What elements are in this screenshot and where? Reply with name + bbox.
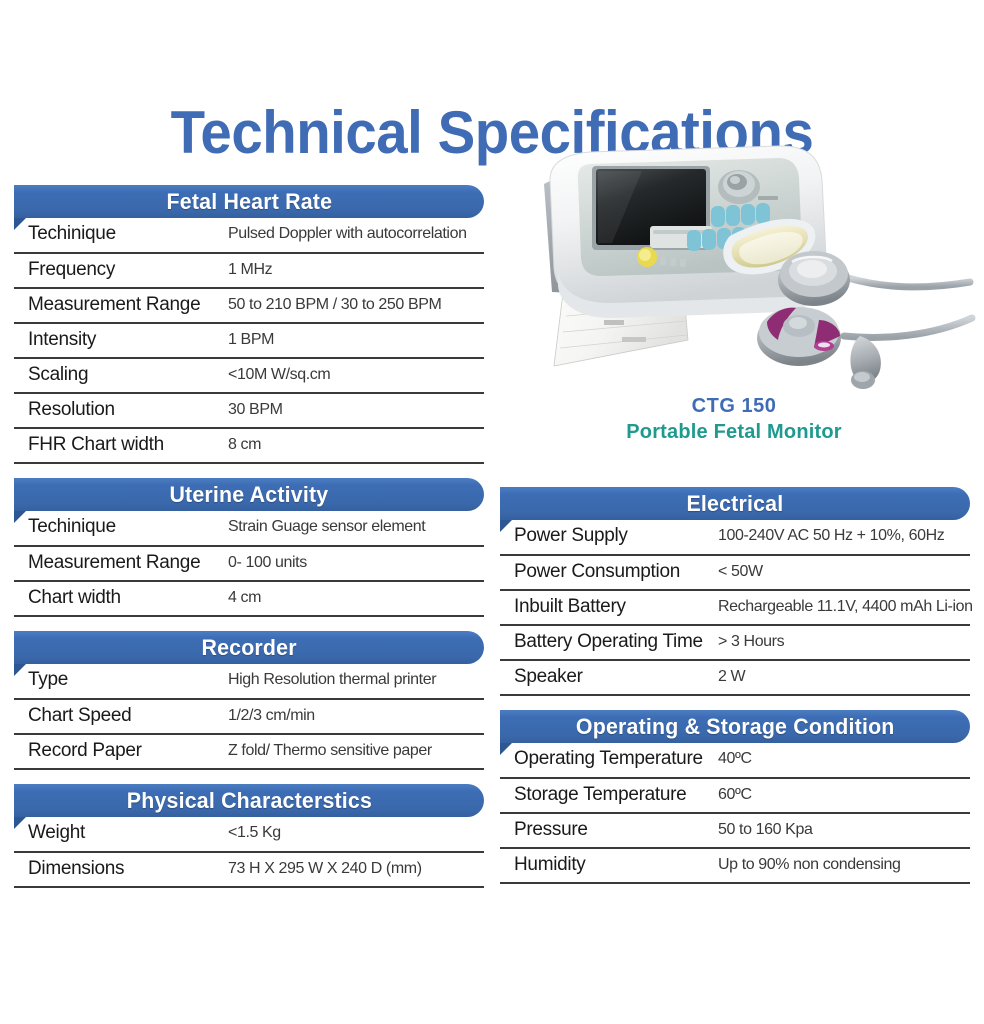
spec-label: Frequency — [14, 253, 228, 288]
spec-label: Humidity — [500, 848, 718, 883]
table-row: Weight<1.5 Kg — [14, 817, 484, 852]
banner-bar: Physical Characterstics — [14, 784, 484, 817]
product-model: CTG 150 — [492, 394, 976, 420]
table-row: Scaling<10M W/sq.cm — [14, 358, 484, 393]
spec-label: Scaling — [14, 358, 228, 393]
table-row: FHR Chart width8 cm — [14, 428, 484, 463]
section-title: Operating & Storage Condition — [576, 714, 895, 740]
table-row: Inbuilt BatteryRechargeable 11.1V, 4400 … — [500, 590, 970, 625]
spec-value: > 3 Hours — [718, 625, 970, 660]
table-row: Chart Speed1/2/3 cm/min — [14, 699, 484, 734]
section-title: Fetal Heart Rate — [166, 189, 332, 215]
spec-label: Power Supply — [500, 520, 718, 555]
spec-label: Techinique — [14, 511, 228, 546]
spec-value: <10M W/sq.cm — [228, 358, 484, 393]
table-row: Chart width4 cm — [14, 581, 484, 616]
spec-value: 8 cm — [228, 428, 484, 463]
spec-section-recorder: RecorderTypeHigh Resolution thermal prin… — [14, 631, 484, 770]
table-row: Pressure50 to 160 Kpa — [500, 813, 970, 848]
table-row: Intensity1 BPM — [14, 323, 484, 358]
table-row: Resolution30 BPM — [14, 393, 484, 428]
spec-label: Pressure — [500, 813, 718, 848]
section-banner-uterine-activity: Uterine Activity — [14, 478, 484, 511]
spec-label: Chart Speed — [14, 699, 228, 734]
table-row: Operating Temperature40ºC — [500, 743, 970, 778]
table-row: Storage Temperature60ºC — [500, 778, 970, 813]
spec-section-uterine-activity: Uterine ActivityTechiniqueStrain Guage s… — [14, 478, 484, 617]
banner-bar: Recorder — [14, 631, 484, 664]
product-subtitle: Portable Fetal Monitor — [492, 420, 976, 446]
spec-section-fetal-heart-rate: Fetal Heart RateTechiniquePulsed Doppler… — [14, 185, 484, 464]
spec-value: Z fold/ Thermo sensitive paper — [228, 734, 484, 769]
toco-transducer-probe — [757, 307, 841, 366]
banner-bar: Fetal Heart Rate — [14, 185, 484, 218]
spec-label: Chart width — [14, 581, 228, 616]
spec-table-uterine-activity: TechiniqueStrain Guage sensor elementMea… — [14, 511, 484, 617]
spec-label: Techinique — [14, 218, 228, 253]
banner-bar: Operating & Storage Condition — [500, 710, 970, 743]
spec-section-operating-storage-condition: Operating & Storage ConditionOperating T… — [500, 710, 970, 884]
banner-fold-notch-icon — [14, 663, 27, 676]
spec-value: Rechargeable 11.1V, 4400 mAh Li-ion — [718, 590, 970, 625]
ultrasound-transducer-probe — [778, 251, 850, 306]
spec-label: Weight — [14, 817, 228, 852]
table-row: Power Consumption< 50W — [500, 555, 970, 590]
product-caption: CTG 150 Portable Fetal Monitor — [492, 394, 976, 445]
spec-value: < 50W — [718, 555, 970, 590]
table-row: Record PaperZ fold/ Thermo sensitive pap… — [14, 734, 484, 769]
spec-value: 60ºC — [718, 778, 970, 813]
page-title: Technical Specifications — [30, 0, 955, 163]
spec-table-recorder: TypeHigh Resolution thermal printerChart… — [14, 664, 484, 770]
spec-value: 0- 100 units — [228, 546, 484, 581]
spec-value: 1/2/3 cm/min — [228, 699, 484, 734]
table-row: Measurement Range50 to 210 BPM / 30 to 2… — [14, 288, 484, 323]
spec-label: Intensity — [14, 323, 228, 358]
spec-label: Power Consumption — [500, 555, 718, 590]
spec-value: High Resolution thermal printer — [228, 664, 484, 699]
table-row: Battery Operating Time> 3 Hours — [500, 625, 970, 660]
spec-label: Measurement Range — [14, 546, 228, 581]
spec-label: Measurement Range — [14, 288, 228, 323]
spec-table-electrical: Power Supply100-240V AC 50 Hz + 10%, 60H… — [500, 520, 970, 696]
table-row: HumidityUp to 90% non condensing — [500, 848, 970, 883]
banner-bar: Uterine Activity — [14, 478, 484, 511]
spec-value: Strain Guage sensor element — [228, 511, 484, 546]
spec-value: 50 to 210 BPM / 30 to 250 BPM — [228, 288, 484, 323]
spec-label: Dimensions — [14, 852, 228, 887]
spec-value: 30 BPM — [228, 393, 484, 428]
table-row: Frequency1 MHz — [14, 253, 484, 288]
section-banner-operating-storage-condition: Operating & Storage Condition — [500, 710, 970, 743]
spec-value: 1 BPM — [228, 323, 484, 358]
table-row: TechiniquePulsed Doppler with autocorrel… — [14, 218, 484, 253]
banner-fold-notch-icon — [14, 217, 27, 230]
section-banner-recorder: Recorder — [14, 631, 484, 664]
spec-table-operating-storage-condition: Operating Temperature40ºCStorage Tempera… — [500, 743, 970, 884]
section-title: Physical Characterstics — [126, 788, 371, 814]
spec-label: Inbuilt Battery — [500, 590, 718, 625]
section-banner-fetal-heart-rate: Fetal Heart Rate — [14, 185, 484, 218]
section-title: Recorder — [201, 635, 296, 661]
spec-section-electrical: ElectricalPower Supply100-240V AC 50 Hz … — [500, 487, 970, 696]
spec-label: Type — [14, 664, 228, 699]
spec-section-physical-characterstics: Physical CharactersticsWeight<1.5 KgDime… — [14, 784, 484, 888]
spec-value: 50 to 160 Kpa — [718, 813, 970, 848]
table-row: Measurement Range0- 100 units — [14, 546, 484, 581]
table-row: Power Supply100-240V AC 50 Hz + 10%, 60H… — [500, 520, 970, 555]
banner-fold-notch-icon — [500, 519, 513, 532]
table-row: Dimensions73 H X 295 W X 240 D (mm) — [14, 852, 484, 887]
spec-label: FHR Chart width — [14, 428, 228, 463]
spec-label: Battery Operating Time — [500, 625, 718, 660]
specifications-content: Fetal Heart RateTechiniquePulsed Doppler… — [0, 185, 984, 975]
table-row: TypeHigh Resolution thermal printer — [14, 664, 484, 699]
spec-value: 4 cm — [228, 581, 484, 616]
banner-fold-notch-icon — [14, 510, 27, 523]
banner-fold-notch-icon — [500, 742, 513, 755]
spec-label: Operating Temperature — [500, 743, 718, 778]
spec-value: Up to 90% non condensing — [718, 848, 970, 883]
spec-value: 1 MHz — [228, 253, 484, 288]
table-row: Speaker2 W — [500, 660, 970, 695]
section-banner-electrical: Electrical — [500, 487, 970, 520]
table-row: TechiniqueStrain Guage sensor element — [14, 511, 484, 546]
spec-value: 2 W — [718, 660, 970, 695]
spec-label: Record Paper — [14, 734, 228, 769]
left-spec-column: Fetal Heart RateTechiniquePulsed Doppler… — [14, 185, 484, 902]
probe-cables — [844, 278, 972, 337]
product-showcase: CTG 150 Portable Fetal Monitor — [492, 140, 976, 450]
banner-fold-notch-icon — [14, 816, 27, 829]
fetal-monitor-illustration — [492, 140, 976, 390]
section-title: Uterine Activity — [170, 482, 329, 508]
spec-label: Speaker — [500, 660, 718, 695]
spec-table-physical-characterstics: Weight<1.5 KgDimensions73 H X 295 W X 24… — [14, 817, 484, 888]
spec-label: Storage Temperature — [500, 778, 718, 813]
product-photo — [492, 140, 976, 390]
section-title: Electrical — [687, 491, 784, 517]
spec-value: 100-240V AC 50 Hz + 10%, 60Hz — [718, 520, 970, 555]
spec-value: 73 H X 295 W X 240 D (mm) — [228, 852, 484, 887]
right-spec-column: ElectricalPower Supply100-240V AC 50 Hz … — [500, 487, 970, 898]
spec-label: Resolution — [14, 393, 228, 428]
spec-value: 40ºC — [718, 743, 970, 778]
section-banner-physical-characterstics: Physical Characterstics — [14, 784, 484, 817]
spec-table-fetal-heart-rate: TechiniquePulsed Doppler with autocorrel… — [14, 218, 484, 464]
spec-value: Pulsed Doppler with autocorrelation — [228, 218, 484, 253]
probe-connector — [850, 336, 880, 389]
banner-bar: Electrical — [500, 487, 970, 520]
spec-value: <1.5 Kg — [228, 817, 484, 852]
